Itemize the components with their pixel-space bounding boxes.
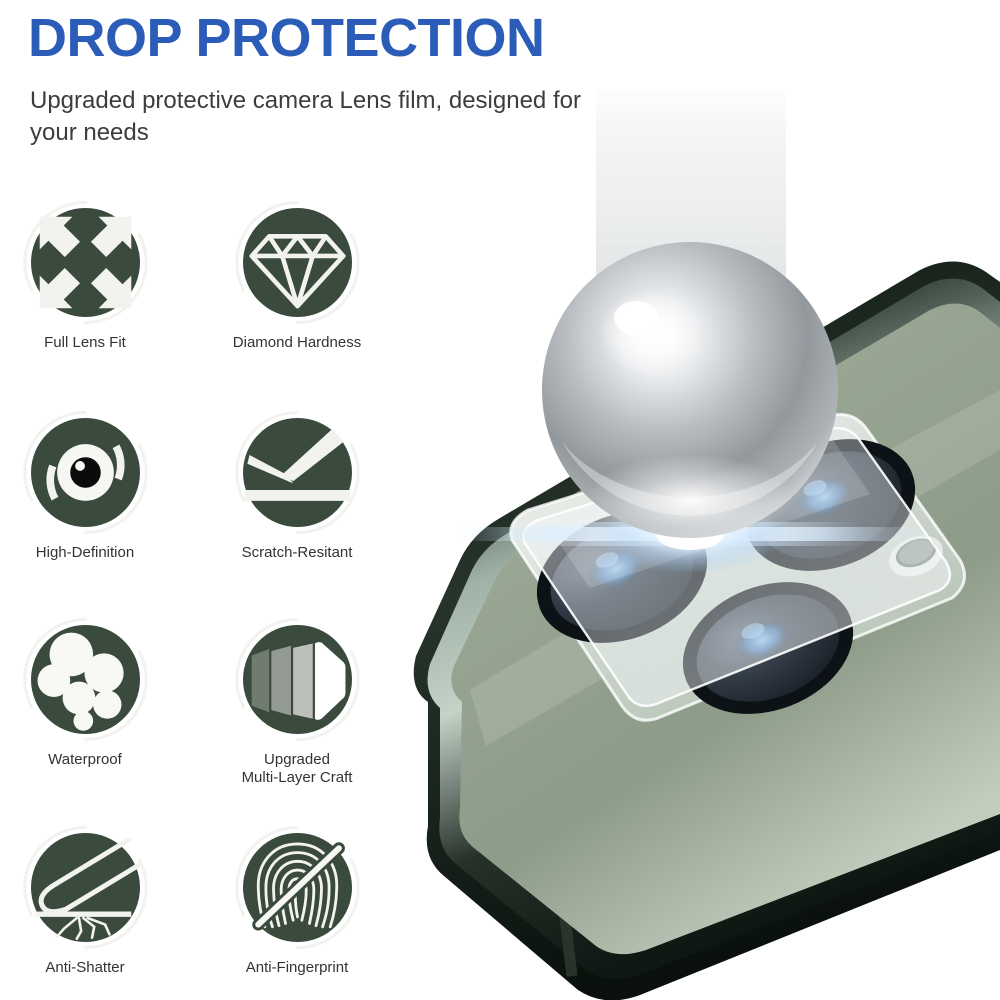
feature-label: High-Definition xyxy=(0,544,185,562)
page-title: DROP PROTECTION xyxy=(28,10,545,67)
blade-surface-icon xyxy=(235,410,360,535)
feature-scratch-resistant[interactable]: Scratch-Resitant xyxy=(197,410,397,562)
feature-multi-layer-craft[interactable]: Upgraded Multi-Layer Craft xyxy=(197,617,397,788)
feature-label: Full Lens Fit xyxy=(0,334,185,352)
feature-label: Waterproof xyxy=(0,751,185,769)
feature-label: Anti-Shatter xyxy=(0,959,185,977)
feature-label: Anti-Fingerprint xyxy=(197,959,397,977)
feature-full-lens-fit[interactable]: Full Lens Fit xyxy=(0,200,185,352)
feature-diamond-hardness[interactable]: Diamond Hardness xyxy=(197,200,397,352)
feature-waterproof[interactable]: Waterproof xyxy=(0,617,185,769)
feature-label: Scratch-Resitant xyxy=(197,544,397,562)
product-feature-banner: DROP PROTECTION Upgraded protective came… xyxy=(0,0,1000,1000)
steel-ball xyxy=(542,242,838,546)
product-photo xyxy=(400,90,1000,1000)
diamond-icon xyxy=(235,200,360,325)
eye-focus-icon xyxy=(23,410,148,535)
drop-crack-icon xyxy=(23,825,148,950)
water-bubbles-icon xyxy=(23,617,148,742)
expand-arrows-icon xyxy=(23,200,148,325)
feature-anti-fingerprint[interactable]: Anti-Fingerprint xyxy=(197,825,397,977)
feature-high-definition[interactable]: High-Definition xyxy=(0,410,185,562)
feature-label: Upgraded Multi-Layer Craft xyxy=(197,751,397,788)
feature-label: Diamond Hardness xyxy=(197,334,397,352)
layer-stack-icon xyxy=(235,617,360,742)
fingerprint-slash-icon xyxy=(235,825,360,950)
feature-anti-shatter[interactable]: Anti-Shatter xyxy=(0,825,185,977)
